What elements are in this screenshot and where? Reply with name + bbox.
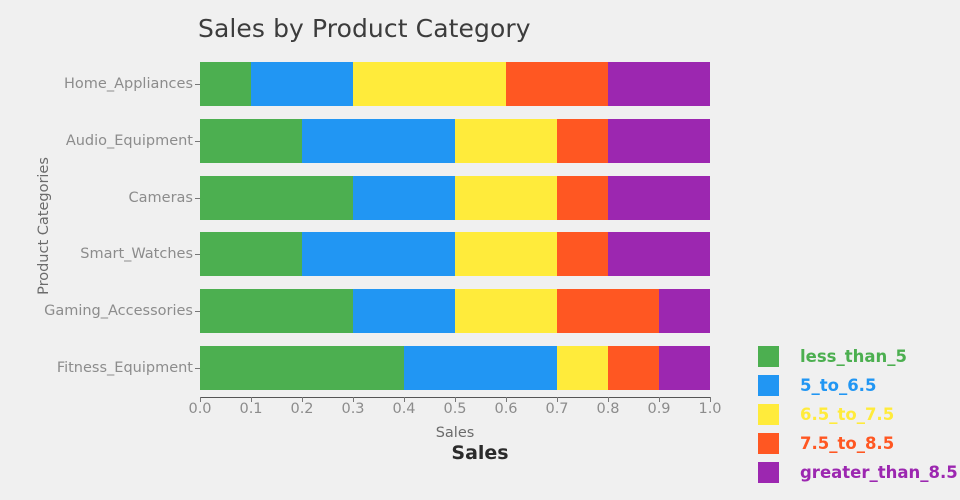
bar-row	[200, 289, 710, 333]
legend-swatch-icon	[758, 462, 779, 483]
legend-item[interactable]: 5_to_6.5	[758, 371, 958, 400]
chart-legend: less_than_55_to_6.56.5_to_7.57.5_to_8.5g…	[758, 342, 958, 487]
y-tick-label: Fitness_Equipment	[57, 360, 193, 376]
bar-segment[interactable]	[200, 289, 353, 333]
bar-segment[interactable]	[455, 289, 557, 333]
bar-row	[200, 119, 710, 163]
bar-segment[interactable]	[608, 232, 710, 276]
legend-label: less_than_5	[800, 347, 907, 366]
bar-row	[200, 346, 710, 390]
bar-row	[200, 62, 710, 106]
bar-segment[interactable]	[302, 119, 455, 163]
y-tick-label: Smart_Watches	[80, 246, 193, 262]
bar-segment[interactable]	[557, 176, 608, 220]
y-axis-title: Product Categories	[36, 157, 52, 295]
x-tick-label: 0.4	[392, 401, 415, 417]
y-tick-label: Home_Appliances	[64, 76, 193, 92]
bar-segment[interactable]	[608, 119, 710, 163]
bar-segment[interactable]	[557, 119, 608, 163]
x-tick-label: 0.1	[239, 401, 262, 417]
y-tick-label: Gaming_Accessories	[44, 303, 193, 319]
bar-segment[interactable]	[455, 176, 557, 220]
legend-swatch-icon	[758, 404, 779, 425]
bar-segment[interactable]	[608, 176, 710, 220]
plot-area	[200, 56, 710, 396]
bar-segment[interactable]	[353, 289, 455, 333]
bar-segment[interactable]	[251, 62, 353, 106]
legend-swatch-icon	[758, 346, 779, 367]
x-tick-label: 0.2	[290, 401, 313, 417]
bar-segment[interactable]	[608, 62, 710, 106]
x-tick-label: 0.7	[545, 401, 568, 417]
bar-segment[interactable]	[659, 346, 710, 390]
bar-segment[interactable]	[608, 346, 659, 390]
bar-segment[interactable]	[353, 62, 506, 106]
legend-label: greater_than_8.5	[800, 463, 958, 482]
y-tick-label: Cameras	[129, 190, 193, 206]
bar-segment[interactable]	[200, 62, 251, 106]
bar-segment[interactable]	[200, 346, 404, 390]
bar-segment[interactable]	[200, 119, 302, 163]
x-axis-title-bold: Sales	[451, 442, 508, 464]
bar-segment[interactable]	[557, 346, 608, 390]
legend-swatch-icon	[758, 433, 779, 454]
x-tick-label: 0.9	[647, 401, 670, 417]
bar-segment[interactable]	[455, 119, 557, 163]
bar-segment[interactable]	[200, 232, 302, 276]
x-tick-label: 0.5	[443, 401, 466, 417]
bar-segment[interactable]	[659, 289, 710, 333]
legend-label: 7.5_to_8.5	[800, 434, 894, 453]
x-tick-label: 0.3	[341, 401, 364, 417]
chart-container: Sales by Product Category Product Catego…	[0, 0, 960, 500]
legend-swatch-icon	[758, 375, 779, 396]
x-tick-label: 0.8	[596, 401, 619, 417]
bar-segment[interactable]	[506, 62, 608, 106]
bar-segment[interactable]	[404, 346, 557, 390]
bar-segment[interactable]	[455, 232, 557, 276]
legend-item[interactable]: 7.5_to_8.5	[758, 429, 958, 458]
bar-row	[200, 176, 710, 220]
y-tick-label: Audio_Equipment	[66, 133, 193, 149]
x-tick-label: 0.0	[188, 401, 211, 417]
bar-segment[interactable]	[353, 176, 455, 220]
bar-row	[200, 232, 710, 276]
legend-item[interactable]: less_than_5	[758, 342, 958, 371]
legend-label: 5_to_6.5	[800, 376, 876, 395]
x-axis-title: Sales	[436, 425, 475, 441]
bar-segment[interactable]	[302, 232, 455, 276]
legend-label: 6.5_to_7.5	[800, 405, 894, 424]
x-tick-label: 0.6	[494, 401, 517, 417]
bar-segment[interactable]	[557, 232, 608, 276]
bar-segment[interactable]	[557, 289, 659, 333]
x-tick-label: 1.0	[698, 401, 721, 417]
legend-item[interactable]: greater_than_8.5	[758, 458, 958, 487]
chart-title: Sales by Product Category	[198, 14, 531, 43]
bar-segment[interactable]	[200, 176, 353, 220]
legend-item[interactable]: 6.5_to_7.5	[758, 400, 958, 429]
